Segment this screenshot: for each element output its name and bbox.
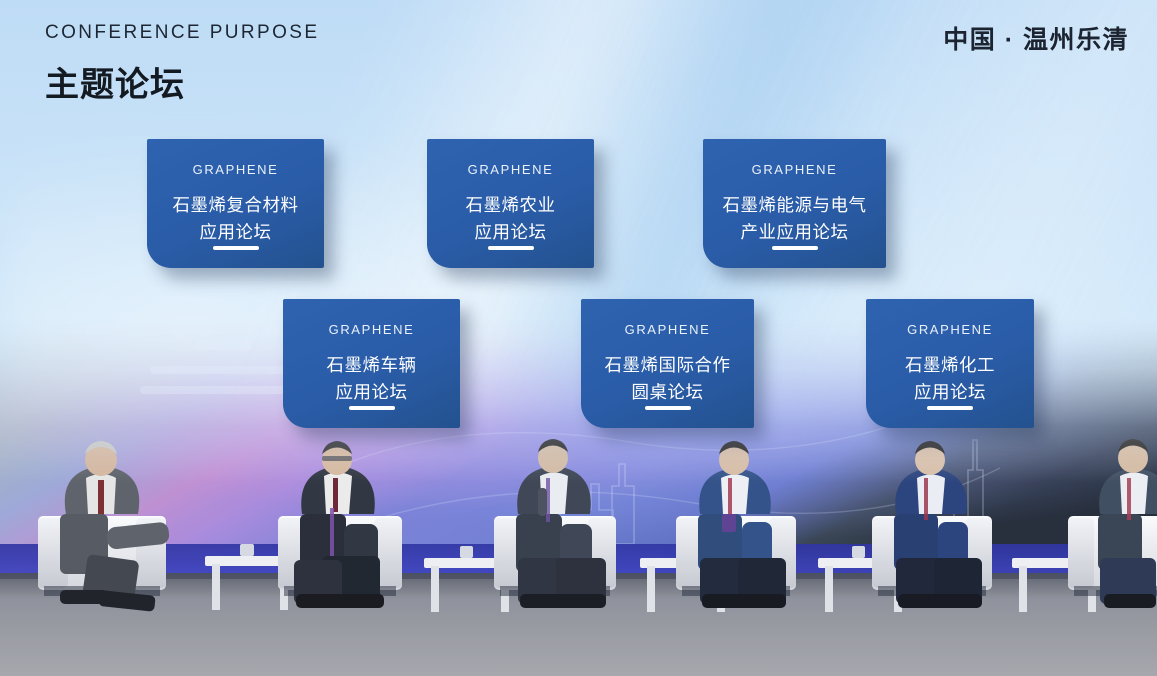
forum-card-title-line1: 石墨烯化工 [866, 352, 1034, 379]
forum-card-underline [772, 246, 818, 250]
forum-card-title-line2: 应用论坛 [427, 219, 594, 246]
forum-card-kicker: GRAPHENE [866, 323, 1034, 336]
forum-card-title-line1: 石墨烯车辆 [283, 352, 460, 379]
forum-card-title-line1: 石墨烯国际合作 [581, 352, 754, 379]
forum-card-title: 石墨烯国际合作 圆桌论坛 [581, 352, 754, 405]
forum-card-title-line1: 石墨烯能源与电气 [703, 192, 886, 219]
forum-card-kicker: GRAPHENE [147, 163, 324, 176]
forum-card-graphene-agriculture[interactable]: GRAPHENE 石墨烯农业 应用论坛 [427, 139, 594, 268]
forum-card-title: 石墨烯农业 应用论坛 [427, 192, 594, 245]
forum-card-title-line2: 圆桌论坛 [581, 379, 754, 406]
slide-root: CONFERENCE PURPOSE 主题论坛 中国 · 温州乐清 GRAPHE… [0, 0, 1157, 676]
forum-card-kicker: GRAPHENE [283, 323, 460, 336]
forum-card-kicker: GRAPHENE [703, 163, 886, 176]
forum-card-graphene-energy-electrical[interactable]: GRAPHENE 石墨烯能源与电气 产业应用论坛 [703, 139, 886, 268]
forum-card-title-line2: 产业应用论坛 [703, 219, 886, 246]
conference-purpose-kicker: CONFERENCE PURPOSE [45, 22, 319, 44]
forum-card-graphene-chemical[interactable]: GRAPHENE 石墨烯化工 应用论坛 [866, 299, 1034, 428]
forum-card-underline [927, 406, 973, 410]
forum-card-underline [213, 246, 259, 250]
forum-card-title-line1: 石墨烯农业 [427, 192, 594, 219]
forum-card-underline [349, 406, 395, 410]
forum-card-title: 石墨烯化工 应用论坛 [866, 352, 1034, 405]
page-title: 主题论坛 [45, 57, 185, 106]
forum-card-title: 石墨烯车辆 应用论坛 [283, 352, 460, 405]
forum-card-title: 石墨烯能源与电气 产业应用论坛 [703, 192, 886, 245]
forum-card-title-line2: 应用论坛 [866, 379, 1034, 406]
forum-card-title-line1: 石墨烯复合材料 [147, 192, 324, 219]
forum-card-graphene-vehicle[interactable]: GRAPHENE 石墨烯车辆 应用论坛 [283, 299, 460, 428]
forum-card-kicker: GRAPHENE [581, 323, 754, 336]
forum-card-kicker: GRAPHENE [427, 163, 594, 176]
location-label: 中国 · 温州乐清 [943, 20, 1129, 56]
forum-card-underline [645, 406, 691, 410]
forum-card-graphene-international-cooperation[interactable]: GRAPHENE 石墨烯国际合作 圆桌论坛 [581, 299, 754, 428]
forum-card-graphene-composite-materials[interactable]: GRAPHENE 石墨烯复合材料 应用论坛 [147, 139, 324, 268]
forum-card-title: 石墨烯复合材料 应用论坛 [147, 192, 324, 245]
forum-card-underline [488, 246, 534, 250]
forum-card-title-line2: 应用论坛 [147, 219, 324, 246]
forum-card-title-line2: 应用论坛 [283, 379, 460, 406]
